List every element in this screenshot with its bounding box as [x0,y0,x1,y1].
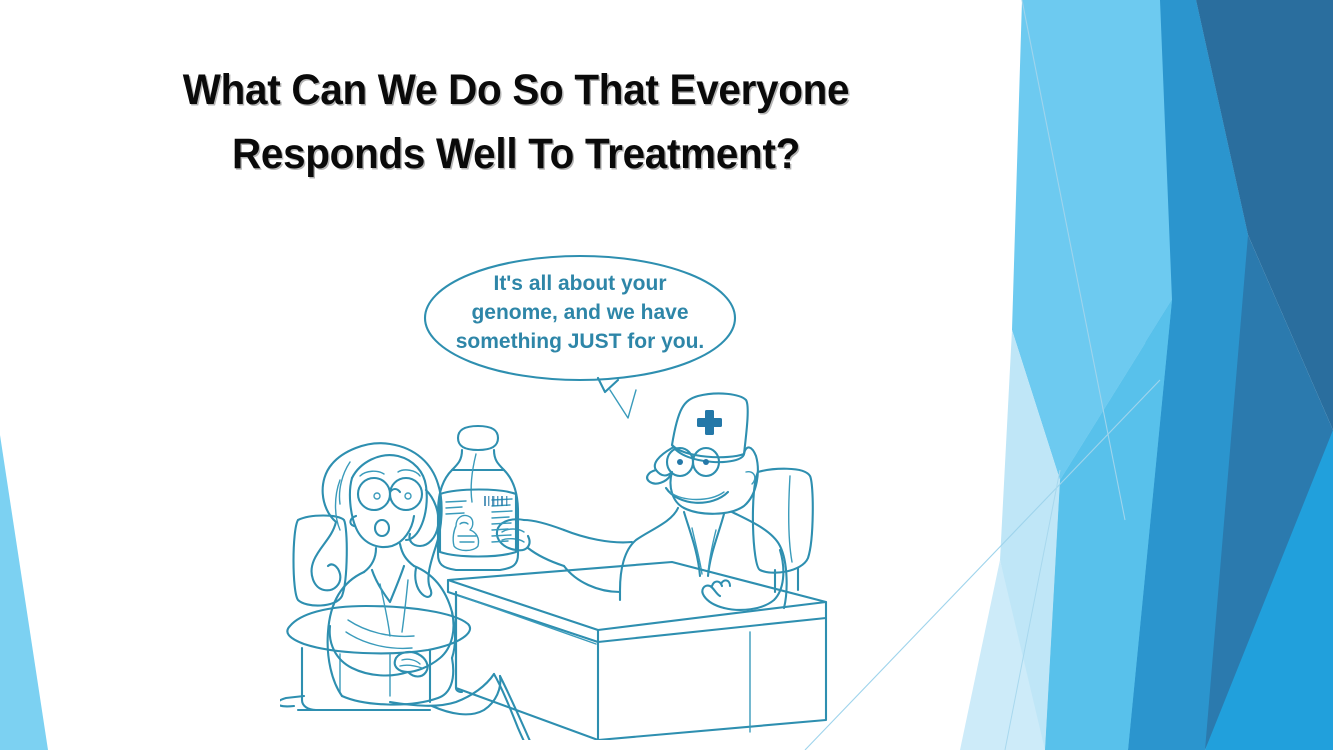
patient-figure [312,443,575,740]
patient-shin-right [500,676,544,740]
doctor-pupil-left [677,459,683,465]
patient-mouth [375,520,389,536]
shard-pale-bottom [960,560,1045,750]
shard-vivid-lower [1045,300,1172,750]
office-desk [448,562,826,740]
doctor-hand-right [702,580,730,608]
speech-bubble-tail-inner [610,390,636,418]
shard-deep-blue [1196,0,1333,430]
doctor-figure [497,393,787,609]
speech-bubble-line-3: something JUST for you. [456,330,705,353]
patient-hair [312,443,442,597]
patient-pupil-left [374,493,380,499]
desk-side-panel [456,592,598,740]
hairline-lower [1005,470,1060,750]
bottle-highlight [471,454,476,502]
speech-bubble-line-2: genome, and we have [471,301,688,324]
hairline-upper [1022,0,1125,520]
title-line-1: What Can We Do So That Everyone [121,58,911,122]
hairline-diagonal [805,380,1160,750]
bottle-label-barcode [484,496,507,506]
doctor-pupil-right [703,459,709,465]
shard-left-bottom [0,435,48,750]
cartoon-illustration: It's all about your genome, and we have … [280,240,850,740]
patient-torso [328,566,455,696]
patient-neck [364,544,414,572]
bottle-cap [458,426,498,450]
shard-vivid-blue [1205,430,1333,750]
speech-bubble-line-1: It's all about your [493,272,666,295]
medicine-bottle [438,426,518,570]
patient-waist-line [346,620,414,648]
doctor-arm-left [564,530,632,592]
patient-leg-upper [390,674,494,706]
shard-pale-blue [1000,330,1060,750]
patient-fingers [400,659,422,668]
bottle-neck [452,450,504,470]
patient-eyebrow-left [360,471,384,476]
slide-title: What Can We Do So That Everyone Responds… [96,58,936,186]
shard-light-blue-top [1012,0,1196,480]
presentation-slide: What Can We Do So That Everyone Responds… [0,0,1333,750]
doctor-ear [746,472,755,484]
patient-glasses-bridge [390,489,400,492]
shard-mid-blue [1128,0,1248,750]
bottle-label-figure [453,515,478,550]
shard-sky-blue [1045,300,1172,750]
shard-dark-blue [1128,0,1333,750]
doctor-chair-seam [789,476,792,562]
desk-top-edge [448,580,826,642]
patient-skirt [342,658,453,705]
patient-pupil-right [405,493,411,499]
patient-eyebrow-right [398,470,420,476]
title-line-2: Responds Well To Treatment? [121,122,911,186]
speech-bubble: It's all about your genome, and we have … [425,256,735,418]
desk-modesty-line [460,596,596,644]
medical-cross-icon [697,410,722,435]
patient-collar [372,566,404,602]
